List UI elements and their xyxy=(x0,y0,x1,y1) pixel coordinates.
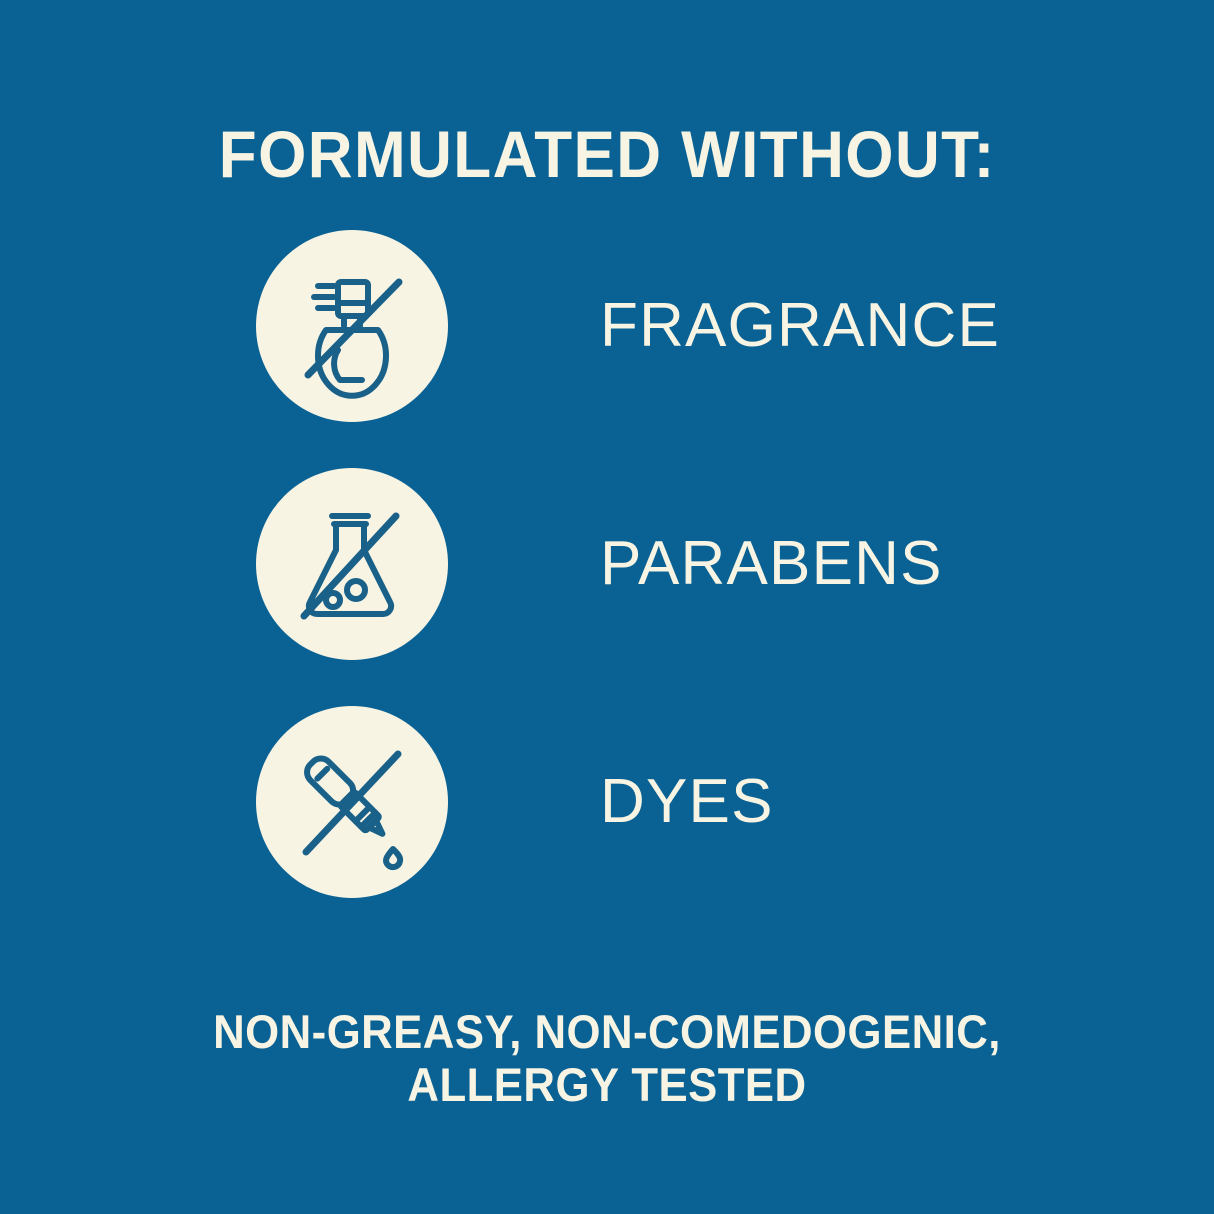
formulated-without-poster: FORMULATED WITHOUT: xyxy=(0,0,1214,1214)
no-fragrance-bottle-icon xyxy=(256,230,448,422)
footer-claims: NON-GREASY, NON-COMEDOGENIC, ALLERGY TES… xyxy=(42,1005,1171,1111)
list-item-label: DYES xyxy=(600,770,774,834)
no-dropper-icon xyxy=(256,706,448,898)
footer-line-2: ALLERGY TESTED xyxy=(42,1058,1171,1111)
list-item-label: FRAGRANCE xyxy=(600,294,1000,358)
no-chemical-flask-icon xyxy=(256,468,448,660)
footer-line-1: NON-GREASY, NON-COMEDOGENIC, xyxy=(42,1005,1171,1058)
claims-list: FRAGRANCE xyxy=(0,230,1214,898)
list-item-fragrance: FRAGRANCE xyxy=(0,230,1214,422)
list-item-label: PARABENS xyxy=(600,532,943,596)
list-item-dyes: DYES xyxy=(0,706,1214,898)
list-item-parabens: PARABENS xyxy=(0,468,1214,660)
page-title: FORMULATED WITHOUT: xyxy=(219,118,996,190)
